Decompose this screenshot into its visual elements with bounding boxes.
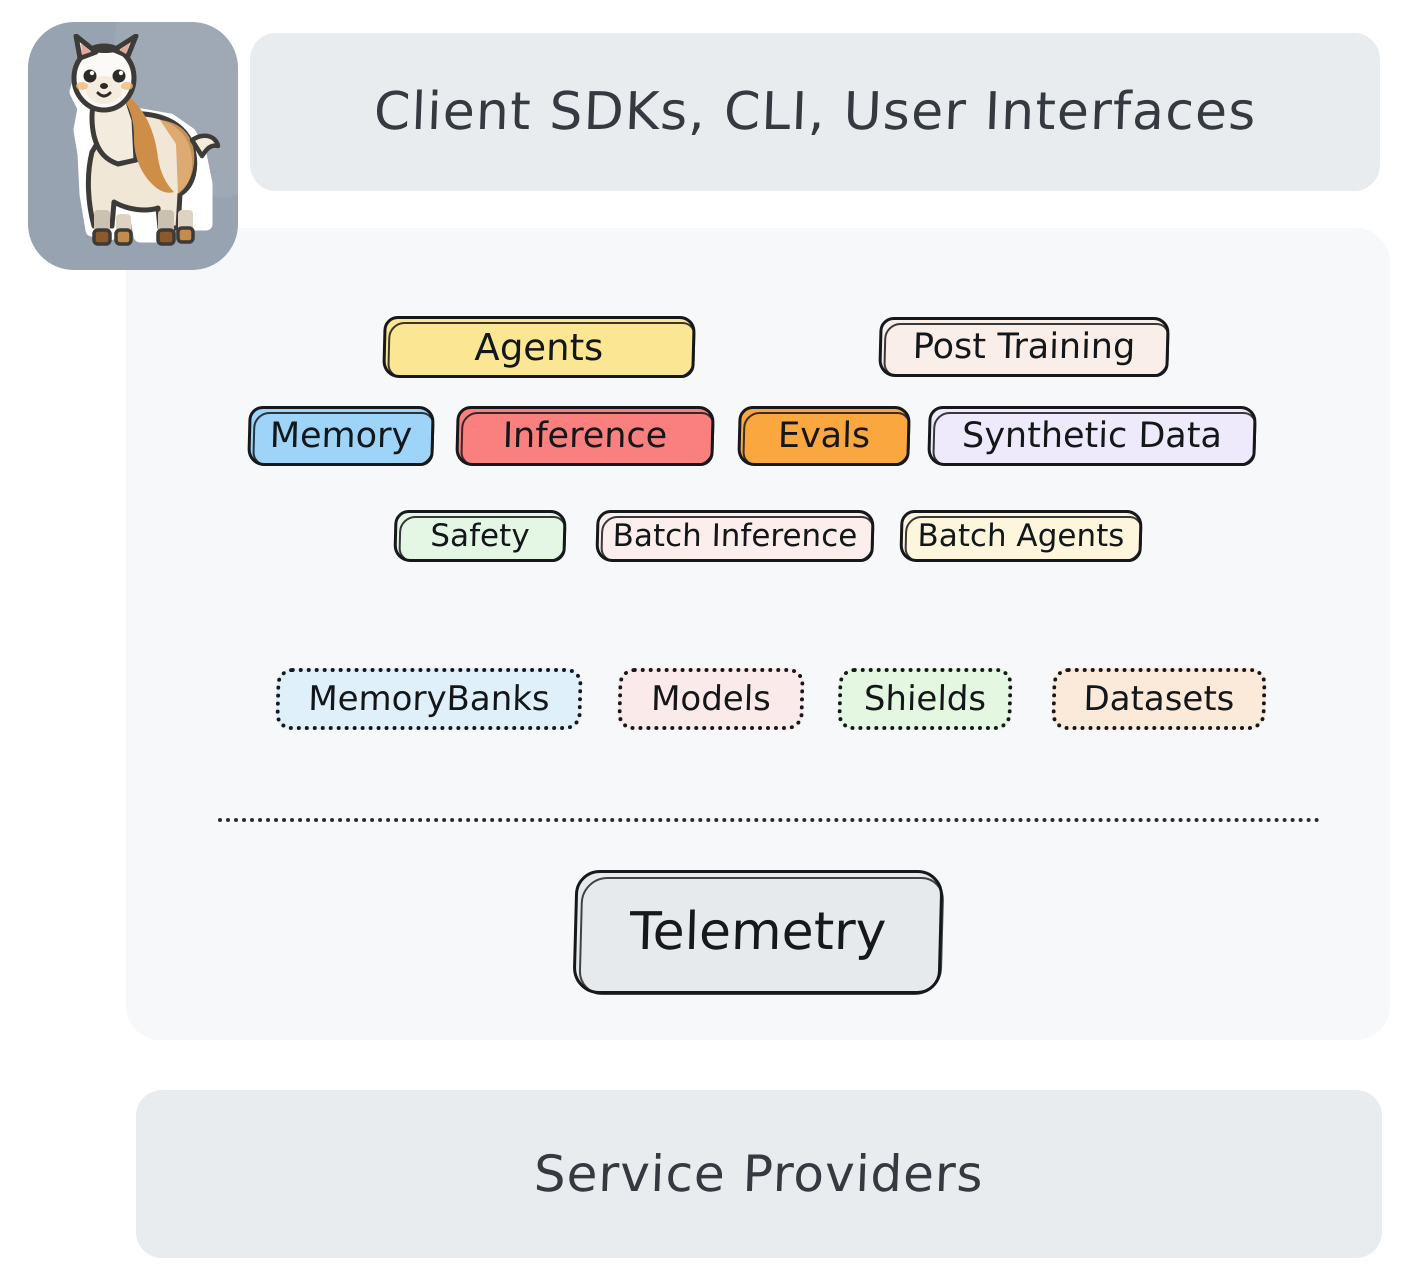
footer-title: Service Providers xyxy=(533,1145,985,1203)
resource-chip-models[interactable]: Models xyxy=(617,668,805,730)
llama-stack-panel: AgentsPost Training MemoryInferenceEvals… xyxy=(126,228,1390,1040)
chip-label: Inference xyxy=(502,416,668,456)
header-title: Client SDKs, CLI, User Interfaces xyxy=(373,82,1258,142)
chip-label: MemoryBanks xyxy=(308,679,550,719)
chip-label: Evals xyxy=(777,416,870,456)
chip-label: Memory xyxy=(269,416,412,456)
api-chip-safety[interactable]: Safety xyxy=(393,510,566,562)
chip-label: Post Training xyxy=(912,327,1136,367)
client-interfaces-bar: Client SDKs, CLI, User Interfaces xyxy=(250,33,1380,191)
telemetry-box[interactable]: Telemetry xyxy=(572,870,943,994)
resource-chip-datasets[interactable]: Datasets xyxy=(1051,668,1267,730)
chip-label: Agents xyxy=(474,326,604,369)
chip-label: Synthetic Data xyxy=(962,416,1223,456)
llama-logo-tile xyxy=(28,22,238,270)
service-providers-bar: Service Providers xyxy=(136,1090,1382,1258)
api-row-2: MemoryInferenceEvalsSynthetic Data xyxy=(248,406,1388,466)
api-chip-batch-inference[interactable]: Batch Inference xyxy=(595,510,874,562)
resource-chip-shields[interactable]: Shields xyxy=(837,668,1013,730)
chip-label: Batch Inference xyxy=(612,518,858,554)
api-chip-inference[interactable]: Inference xyxy=(455,406,715,466)
api-row-3: SafetyBatch InferenceBatch Agents xyxy=(394,510,1394,562)
telemetry-label: Telemetry xyxy=(629,902,887,962)
chip-label: Datasets xyxy=(1083,679,1235,719)
api-chip-synthetic-data[interactable]: Synthetic Data xyxy=(927,406,1257,466)
api-chip-post-training[interactable]: Post Training xyxy=(878,317,1170,377)
llama-icon xyxy=(40,34,226,258)
api-chip-memory[interactable]: Memory xyxy=(247,406,435,466)
section-divider xyxy=(218,818,1320,822)
chip-label: Shields xyxy=(863,679,986,719)
api-row-1: AgentsPost Training xyxy=(383,316,1393,378)
chip-label: Batch Agents xyxy=(917,518,1125,554)
api-chip-evals[interactable]: Evals xyxy=(737,406,911,466)
chip-label: Safety xyxy=(430,518,530,554)
resource-row: MemoryBanksModelsShieldsDatasets xyxy=(276,668,1396,730)
resource-chip-memorybanks[interactable]: MemoryBanks xyxy=(275,668,583,730)
chip-label: Models xyxy=(651,679,772,719)
api-chip-agents[interactable]: Agents xyxy=(382,316,696,378)
telemetry-wrap: Telemetry xyxy=(126,870,1390,994)
api-chip-batch-agents[interactable]: Batch Agents xyxy=(899,510,1142,562)
